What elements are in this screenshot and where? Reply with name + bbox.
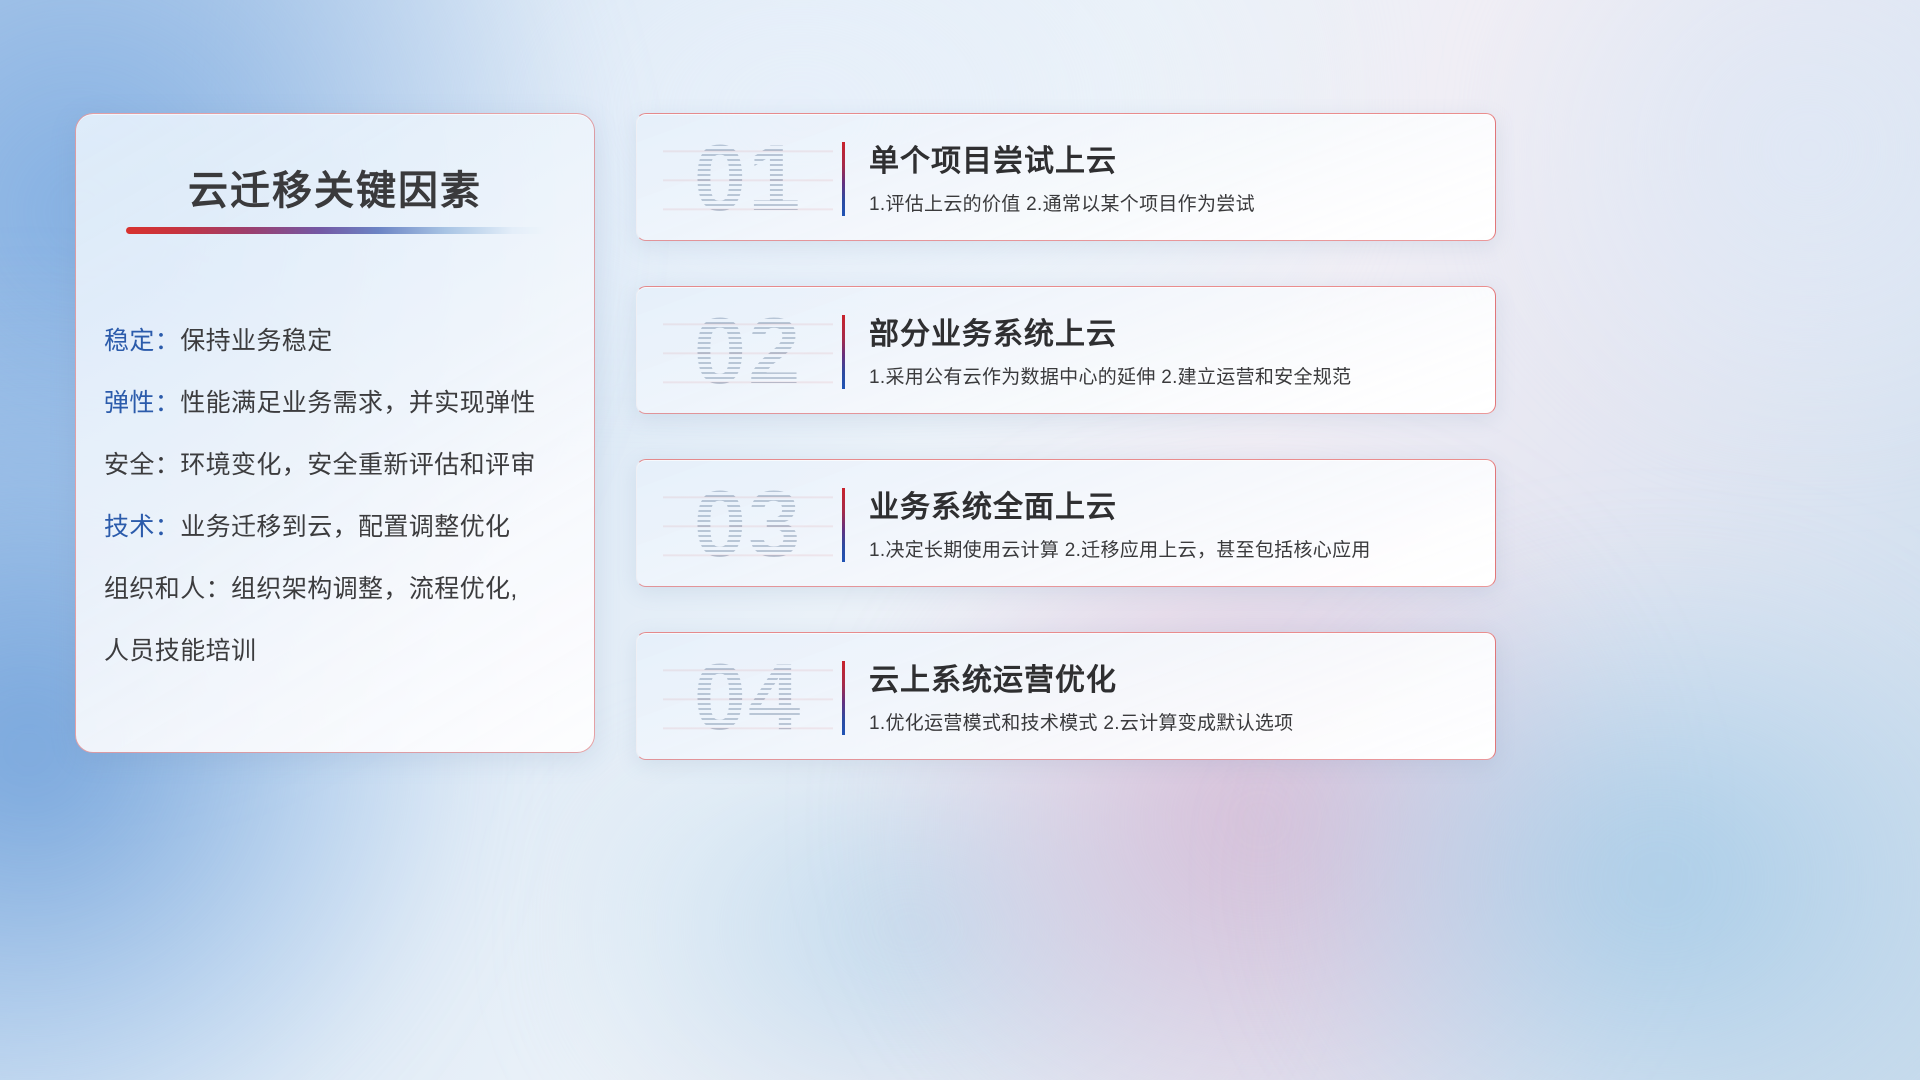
key-factor-text: 保持业务稳定 xyxy=(180,327,332,355)
stage-number: 03 xyxy=(663,470,833,578)
key-factor-item: 弹性：性能满足业务需求，并实现弹性 xyxy=(104,372,578,434)
key-factor-text: 性能满足业务需求，并实现弹性 xyxy=(180,389,536,417)
stage-subtitle: 1.采用公有云作为数据中心的延伸 2.建立运营和安全规范 xyxy=(869,362,1351,389)
key-factor-text: 环境变化，安全重新评估和评审 xyxy=(180,451,536,479)
stage-divider-bar xyxy=(842,315,845,389)
key-factor-item: 稳定：保持业务稳定 xyxy=(104,310,578,372)
cloud-migration-stages: 01 单个项目尝试上云 1.评估上云的价值 2.通常以某个项目作为尝试 02 部… xyxy=(636,113,1496,760)
key-factor-label: 安全： xyxy=(104,451,180,479)
stage-divider-bar xyxy=(842,142,845,216)
stage-subtitle: 1.优化运营模式和技术模式 2.云计算变成默认选项 xyxy=(869,708,1293,735)
stage-subtitle: 1.评估上云的价值 2.通常以某个项目作为尝试 xyxy=(869,189,1255,216)
stage-number: 02 xyxy=(663,297,833,405)
key-factor-text: 组织架构调整，流程优化, xyxy=(231,575,518,603)
key-factors-list: 稳定：保持业务稳定 弹性：性能满足业务需求，并实现弹性 安全：环境变化，安全重新… xyxy=(104,310,578,682)
stage-title: 云上系统运营优化 xyxy=(869,655,1117,699)
stage-number: 01 xyxy=(663,124,833,232)
key-factor-label: 弹性： xyxy=(104,389,180,417)
key-factor-item-continued: 人员技能培训 xyxy=(104,620,578,682)
key-factor-item: 安全：环境变化，安全重新评估和评审 xyxy=(104,434,578,496)
key-factor-text: 人员技能培训 xyxy=(104,637,256,665)
stage-card[interactable]: 03 业务系统全面上云 1.决定长期使用云计算 2.迁移应用上云，甚至包括核心应… xyxy=(636,459,1496,587)
stage-title: 部分业务系统上云 xyxy=(869,309,1117,353)
title-underline-gradient xyxy=(126,227,546,234)
background-glow-top-right xyxy=(1500,0,1920,450)
stage-card[interactable]: 02 部分业务系统上云 1.采用公有云作为数据中心的延伸 2.建立运营和安全规范 xyxy=(636,286,1496,414)
stage-card[interactable]: 01 单个项目尝试上云 1.评估上云的价值 2.通常以某个项目作为尝试 xyxy=(636,113,1496,241)
key-factors-panel: 云迁移关键因素 稳定：保持业务稳定 弹性：性能满足业务需求，并实现弹性 安全：环… xyxy=(75,113,595,753)
panel-title: 云迁移关键因素 xyxy=(76,158,594,216)
stage-title: 业务系统全面上云 xyxy=(869,482,1117,526)
stage-card[interactable]: 04 云上系统运营优化 1.优化运营模式和技术模式 2.云计算变成默认选项 xyxy=(636,632,1496,760)
key-factor-label: 技术： xyxy=(104,513,180,541)
key-factor-item: 组织和人：组织架构调整，流程优化, xyxy=(104,558,578,620)
stage-divider-bar xyxy=(842,661,845,735)
stage-number: 04 xyxy=(663,643,833,751)
key-factor-label: 组织和人： xyxy=(104,575,231,603)
stage-title: 单个项目尝试上云 xyxy=(869,136,1117,180)
key-factor-item: 技术：业务迁移到云，配置调整优化 xyxy=(104,496,578,558)
stage-subtitle: 1.决定长期使用云计算 2.迁移应用上云，甚至包括核心应用 xyxy=(869,535,1371,562)
stage-divider-bar xyxy=(842,488,845,562)
key-factor-label: 稳定： xyxy=(104,327,180,355)
key-factor-text: 业务迁移到云，配置调整优化 xyxy=(180,513,510,541)
